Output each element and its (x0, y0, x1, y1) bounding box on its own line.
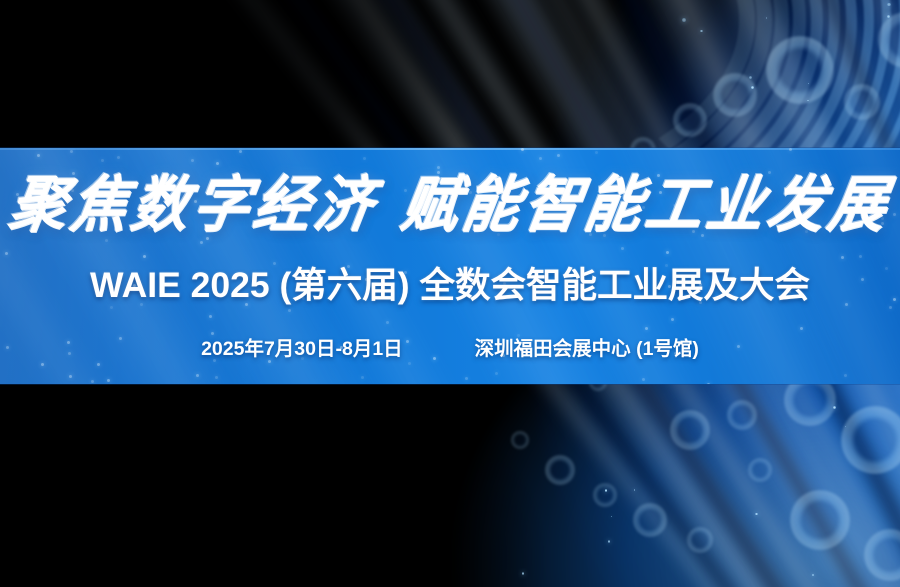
bokeh-ring (790, 490, 850, 550)
bokeh-ring (841, 406, 900, 474)
fiber-sparkle (634, 489, 636, 491)
event-poster: 聚焦数字经济赋能智能工业发展 WAIE 2025 (第六届) 全数会智能工业展及… (0, 0, 900, 587)
calligraphy-headline-left: 聚焦数字经济 (4, 169, 381, 241)
event-date: 2025年7月30日-8月1日 (201, 332, 403, 361)
page-title: WAIE 2025 (第六届) 全数会智能工业展及大会 (0, 268, 900, 304)
bokeh-ring (633, 503, 667, 537)
bokeh-ring (670, 410, 710, 450)
bokeh-ring (593, 483, 617, 507)
fiber-sparkle (751, 86, 754, 89)
calligraphy-headline: 聚焦数字经济赋能智能工业发展 (0, 174, 900, 235)
bokeh-ring (766, 36, 834, 104)
bokeh-ring (687, 527, 713, 553)
bokeh-ring (748, 458, 772, 482)
fiber-sparkle (700, 30, 703, 33)
bokeh-ring (673, 103, 707, 137)
bokeh-ring (545, 455, 575, 485)
fiber-sparkle (887, 3, 890, 6)
bokeh-ring (844, 84, 880, 120)
fiber-sparkle (682, 18, 685, 21)
bokeh-ring (511, 431, 529, 449)
calligraphy-headline-right: 赋能智能工业发展 (396, 169, 895, 241)
bokeh-ring (713, 73, 757, 117)
banner-content: 聚焦数字经济赋能智能工业发展 WAIE 2025 (第六届) 全数会智能工业展及… (0, 148, 900, 384)
bokeh-ring (727, 400, 757, 430)
event-venue: 深圳福田会展中心 (1号馆) (475, 332, 699, 361)
fiber-sparkle (812, 574, 814, 576)
event-details: 2025年7月30日-8月1日 深圳福田会展中心 (1号馆) (0, 332, 900, 361)
fiber-sparkle (887, 15, 890, 18)
fiber-sparkle (766, 17, 768, 19)
fiber-sparkle (749, 76, 752, 79)
fiber-sparkle (807, 100, 808, 101)
